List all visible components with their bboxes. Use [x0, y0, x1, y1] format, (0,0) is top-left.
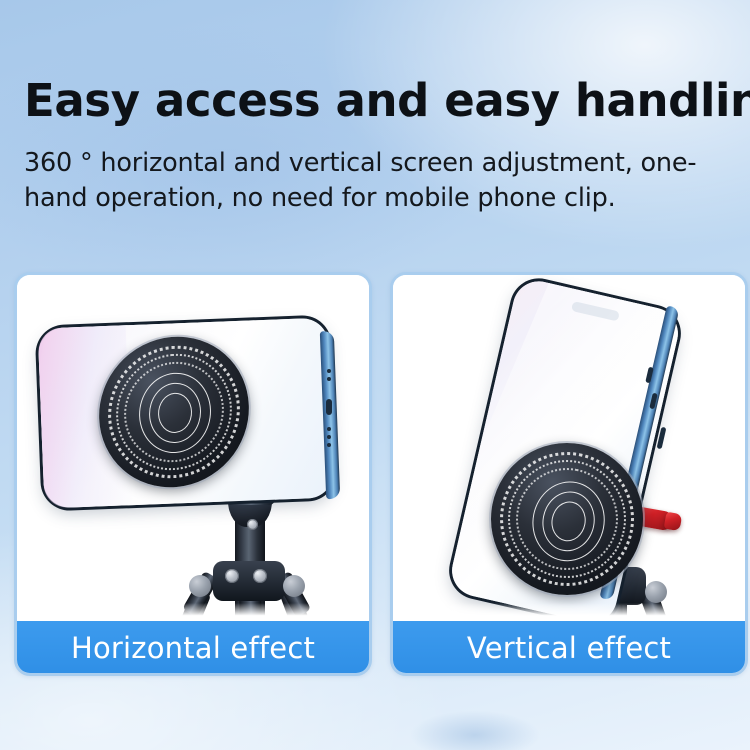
phone-speaker-hole-4 [327, 435, 331, 439]
leg-cap-right-v [645, 581, 667, 603]
photo-horizontal [17, 275, 369, 621]
phone-speaker-hole-3 [327, 427, 331, 431]
product-feature-image: Easy access and easy handling 360 ° hori… [0, 0, 750, 750]
tripod-hub [213, 561, 285, 601]
phone-speaker-hole-1 [327, 369, 331, 373]
photo-ground-fade [17, 603, 369, 621]
panel-horizontal-effect: Horizontal effect [14, 272, 372, 676]
tripod-hub-screw-left [225, 569, 239, 583]
page-subtitle: 360 ° horizontal and vertical screen adj… [24, 146, 730, 215]
phone-speaker-hole-5 [327, 443, 331, 447]
background-shadow [385, 700, 565, 750]
panel-vertical-effect: Vertical effect [390, 272, 748, 676]
photo-ground-fade-v [393, 603, 745, 621]
red-lever-tip-v [664, 512, 683, 532]
phone-charging-port [326, 399, 332, 415]
phone-speaker-hole-2 [327, 377, 331, 381]
ball-head-knob [247, 519, 258, 530]
leg-cap-left [189, 575, 211, 597]
caption-vertical: Vertical effect [392, 621, 746, 674]
caption-horizontal: Horizontal effect [16, 621, 370, 674]
leg-cap-right [283, 575, 305, 597]
photo-vertical [393, 275, 745, 621]
phone-power-button [657, 427, 667, 450]
tripod-hub-screw-right [253, 569, 267, 583]
page-title: Easy access and easy handling [24, 78, 724, 125]
